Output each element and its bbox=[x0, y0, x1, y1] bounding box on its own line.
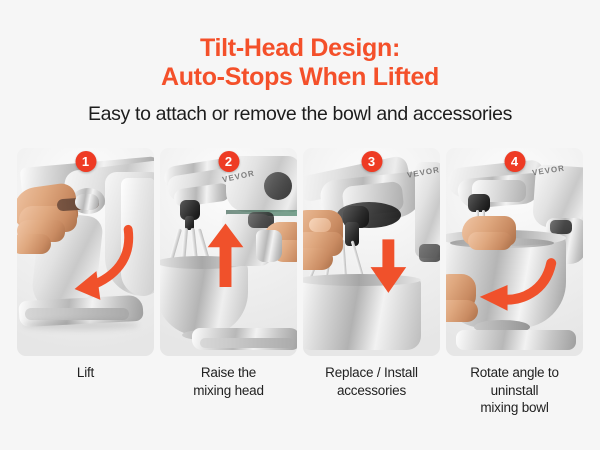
step-badge-1: 1 bbox=[75, 151, 96, 172]
step-panel-2: 2 VEVOR bbox=[160, 148, 297, 356]
step-panel-4: 4 VEVOR bbox=[446, 148, 583, 356]
photo-installing-whisk bbox=[303, 148, 440, 356]
caption-row: Lift Raise the mixing head Replace / Ins… bbox=[17, 364, 583, 417]
step-panel-1: 1 bbox=[17, 148, 154, 356]
step-badge-4: 4 bbox=[504, 151, 525, 172]
step-panel-strip: 1 bbox=[17, 148, 583, 356]
photo-hand-lifting-mixer-head bbox=[17, 148, 154, 356]
header: Tilt-Head Design: Auto-Stops When Lifted… bbox=[0, 0, 600, 126]
step-panel-3: 3 VEVOR bbox=[303, 148, 440, 356]
page-title: Tilt-Head Design: Auto-Stops When Lifted bbox=[0, 34, 600, 92]
caption-step-1: Lift bbox=[17, 364, 154, 417]
page-subtitle: Easy to attach or remove the bowl and ac… bbox=[0, 103, 600, 126]
step-badge-3: 3 bbox=[361, 151, 382, 172]
title-line-1: Tilt-Head Design: bbox=[0, 34, 600, 63]
step-badge-2: 2 bbox=[218, 151, 239, 172]
title-line-2: Auto-Stops When Lifted bbox=[0, 63, 600, 92]
caption-step-2: Raise the mixing head bbox=[160, 364, 297, 417]
caption-step-4: Rotate angle to uninstall mixing bowl bbox=[446, 364, 583, 417]
caption-step-3: Replace / Install accessories bbox=[303, 364, 440, 417]
photo-rotating-bowl bbox=[446, 148, 583, 356]
